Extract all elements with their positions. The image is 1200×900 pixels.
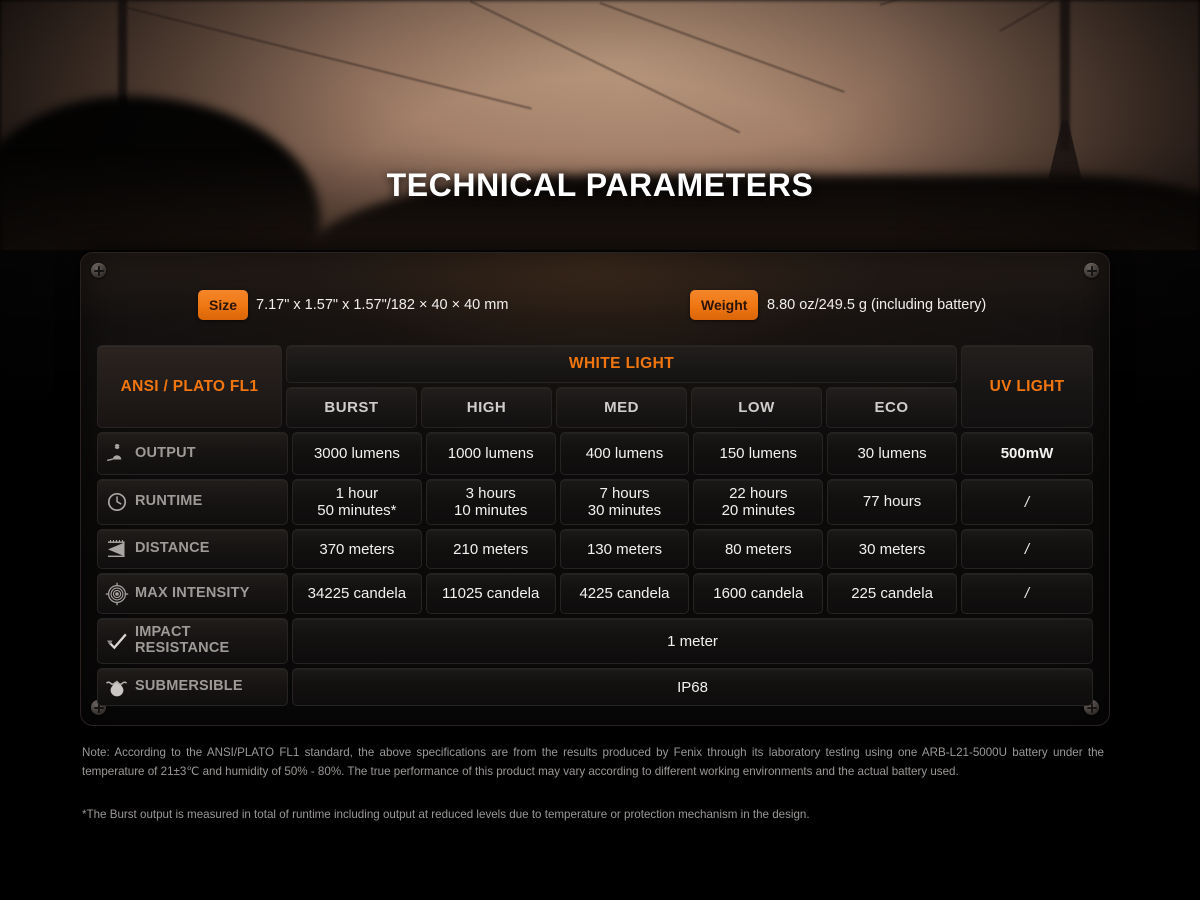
cell-distance-uv: /: [961, 529, 1093, 569]
header-mode-burst: BURST: [286, 387, 417, 428]
cell-submersible-value: IP68: [292, 668, 1093, 706]
table-row: RUNTIME 1 hour 50 minutes* 3 hours 10 mi…: [97, 479, 1093, 525]
header-mode-low: LOW: [691, 387, 822, 428]
size-weight-row: Size 7.17" x 1.57" x 1.57"/182 × 40 × 40…: [81, 283, 1109, 327]
header-uv-light: UV LIGHT: [961, 345, 1093, 428]
cell-distance-med: 130 meters: [560, 529, 690, 569]
cell-intensity-uv: /: [961, 573, 1093, 614]
size-badge: Size: [198, 290, 248, 320]
row-label-text: SUBMERSIBLE: [135, 679, 243, 695]
header-mode-med: MED: [556, 387, 687, 428]
row-label-max-intensity: MAX INTENSITY: [97, 573, 288, 614]
row-label-text: OUTPUT: [135, 446, 196, 462]
cell-intensity-eco: 225 candela: [827, 573, 957, 614]
beam-distance-icon: [104, 536, 130, 562]
table-row: OUTPUT 3000 lumens 1000 lumens 400 lumen…: [97, 432, 1093, 475]
header-mode-eco: ECO: [826, 387, 957, 428]
size-value: 7.17" x 1.57" x 1.57"/182 × 40 × 40 mm: [256, 290, 508, 320]
header-ansi-plato: ANSI / PLATO FL1: [97, 345, 282, 428]
cell-distance-burst: 370 meters: [292, 529, 422, 569]
weight-badge: Weight: [690, 290, 758, 320]
mode-header-row: BURST HIGH MED LOW ECO: [286, 387, 957, 428]
header-white-light: WHITE LIGHT: [286, 345, 957, 383]
cell-distance-eco: 30 meters: [827, 529, 957, 569]
cell-distance-low: 80 meters: [693, 529, 823, 569]
cell-runtime-high: 3 hours 10 minutes: [426, 479, 556, 525]
note-burst-footnote: *The Burst output is measured in total o…: [82, 806, 1104, 825]
cell-runtime-low: 22 hours 20 minutes: [693, 479, 823, 525]
water-droplet-icon: [104, 674, 130, 700]
screw-top-right: [1084, 263, 1099, 278]
cell-output-eco: 30 lumens: [827, 432, 957, 475]
cell-intensity-high: 11025 candela: [426, 573, 556, 614]
sun-rays-icon: [104, 441, 130, 467]
cell-intensity-burst: 34225 candela: [292, 573, 422, 614]
cell-runtime-burst: 1 hour 50 minutes*: [292, 479, 422, 525]
header-mode-high: HIGH: [421, 387, 552, 428]
cell-intensity-med: 4225 candela: [560, 573, 690, 614]
table-row: SUBMERSIBLE IP68: [97, 668, 1093, 706]
note-primary: Note: According to the ANSI/PLATO FL1 st…: [82, 744, 1104, 782]
cell-distance-high: 210 meters: [426, 529, 556, 569]
cell-output-low: 150 lumens: [693, 432, 823, 475]
table-row: IMPACT RESISTANCE 1 meter: [97, 618, 1093, 664]
weight-value: 8.80 oz/249.5 g (including battery): [767, 290, 986, 320]
cell-output-high: 1000 lumens: [426, 432, 556, 475]
row-label-text: DISTANCE: [135, 541, 210, 557]
spec-panel: Size 7.17" x 1.57" x 1.57"/182 × 40 × 40…: [80, 252, 1110, 726]
table-row: DISTANCE 370 meters 210 meters 130 meter…: [97, 529, 1093, 569]
row-label-text: MAX INTENSITY: [135, 586, 250, 602]
cell-output-uv: 500mW: [961, 432, 1093, 475]
cell-output-med: 400 lumens: [560, 432, 690, 475]
page-title: TECHNICAL PARAMETERS: [0, 167, 1200, 204]
cell-runtime-uv: /: [961, 479, 1093, 525]
cell-runtime-eco: 77 hours: [827, 479, 957, 525]
table-row: MAX INTENSITY 34225 candela 11025 candel…: [97, 573, 1093, 614]
cell-intensity-low: 1600 candela: [693, 573, 823, 614]
spec-table: ANSI / PLATO FL1 WHITE LIGHT BURST HIGH …: [97, 345, 1093, 710]
row-label-text: RUNTIME: [135, 494, 202, 510]
row-label-output: OUTPUT: [97, 432, 288, 475]
cell-runtime-med: 7 hours 30 minutes: [560, 479, 690, 525]
clock-icon: [104, 489, 130, 515]
cell-output-burst: 3000 lumens: [292, 432, 422, 475]
table-header-row: ANSI / PLATO FL1 WHITE LIGHT BURST HIGH …: [97, 345, 1093, 428]
cell-impact-resistance-value: 1 meter: [292, 618, 1093, 664]
row-label-impact-resistance: IMPACT RESISTANCE: [97, 618, 288, 664]
target-rings-icon: [104, 581, 130, 607]
row-label-text: IMPACT RESISTANCE: [135, 625, 229, 656]
impact-drop-check-icon: [104, 628, 130, 654]
row-label-distance: DISTANCE: [97, 529, 288, 569]
screw-top-left: [91, 263, 106, 278]
row-label-runtime: RUNTIME: [97, 479, 288, 525]
white-light-group: WHITE LIGHT BURST HIGH MED LOW ECO: [286, 345, 957, 428]
row-label-submersible: SUBMERSIBLE: [97, 668, 288, 706]
